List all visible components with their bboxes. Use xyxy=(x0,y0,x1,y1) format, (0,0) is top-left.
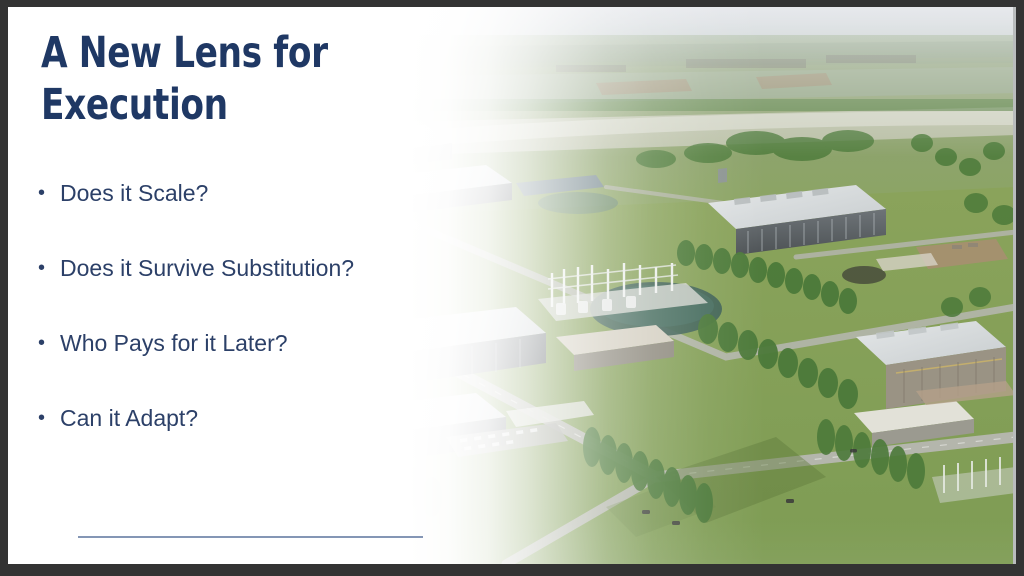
list-item: • Does it Survive Substitution? xyxy=(38,254,468,329)
horizontal-rule xyxy=(78,536,423,538)
bullet-icon: • xyxy=(38,254,60,282)
bullet-text: Can it Adapt? xyxy=(60,404,468,432)
bullet-text: Does it Survive Substitution? xyxy=(60,254,468,282)
list-item: • Does it Scale? xyxy=(38,179,468,254)
slide-title: A New Lens for Execution xyxy=(41,27,377,131)
bullet-text: Does it Scale? xyxy=(60,179,468,207)
bullet-icon: • xyxy=(38,404,60,432)
bullet-list: • Does it Scale? • Does it Survive Subst… xyxy=(38,179,468,479)
slide-canvas: A New Lens for Execution • Does it Scale… xyxy=(8,7,1016,564)
slide-frame: A New Lens for Execution • Does it Scale… xyxy=(0,0,1024,576)
bullet-text: Who Pays for it Later? xyxy=(60,329,468,357)
bullet-icon: • xyxy=(38,179,60,207)
photo-right-edge xyxy=(1013,7,1016,564)
list-item: • Who Pays for it Later? xyxy=(38,329,468,404)
list-item: • Can it Adapt? xyxy=(38,404,468,479)
bullet-icon: • xyxy=(38,329,60,357)
